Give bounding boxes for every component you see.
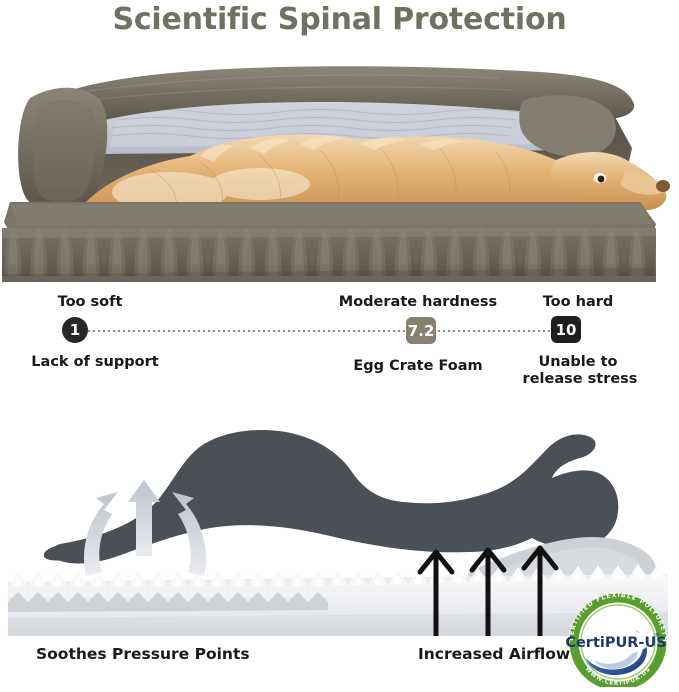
scale-marker-10[interactable]: 10 — [551, 316, 581, 343]
scale-marker-1[interactable]: 1 — [62, 317, 88, 343]
hardness-scale: Too soft Moderate hardness Too hard 1 7.… — [0, 292, 679, 392]
caption-soothes-pressure-points: Soothes Pressure Points — [36, 645, 250, 663]
scale-track-right — [438, 330, 552, 332]
scale-right-top-label: Too hard — [524, 294, 632, 310]
scale-left-top-label: Too soft — [30, 294, 150, 310]
caption-increased-airflow: Increased Airflow — [418, 645, 570, 663]
dog-silhouette-shape — [44, 430, 619, 563]
certipur-us-badge: CONTAINS CERTIFIED FLEXIBLE POLYURETHANE… — [562, 592, 674, 687]
scale-marker-7-2[interactable]: 7.2 — [406, 317, 436, 344]
product-photo — [0, 52, 679, 284]
page-title: Scientific Spinal Protection — [0, 2, 679, 37]
badge-center-text: CertiPUR-US — [565, 635, 666, 651]
badge-registered-mark: ® — [654, 632, 660, 639]
scale-left-bottom-label: Lack of support — [10, 354, 180, 371]
scale-middle-top-label: Moderate hardness — [333, 294, 503, 310]
scale-track-left — [88, 330, 408, 332]
scale-right-bottom-label-line2: release stress — [508, 371, 652, 388]
infographic-page: Scientific Spinal Protection — [0, 0, 679, 689]
scale-right-bottom-label-line1: Unable to — [518, 354, 638, 371]
scale-middle-bottom-label: Egg Crate Foam — [336, 358, 500, 375]
